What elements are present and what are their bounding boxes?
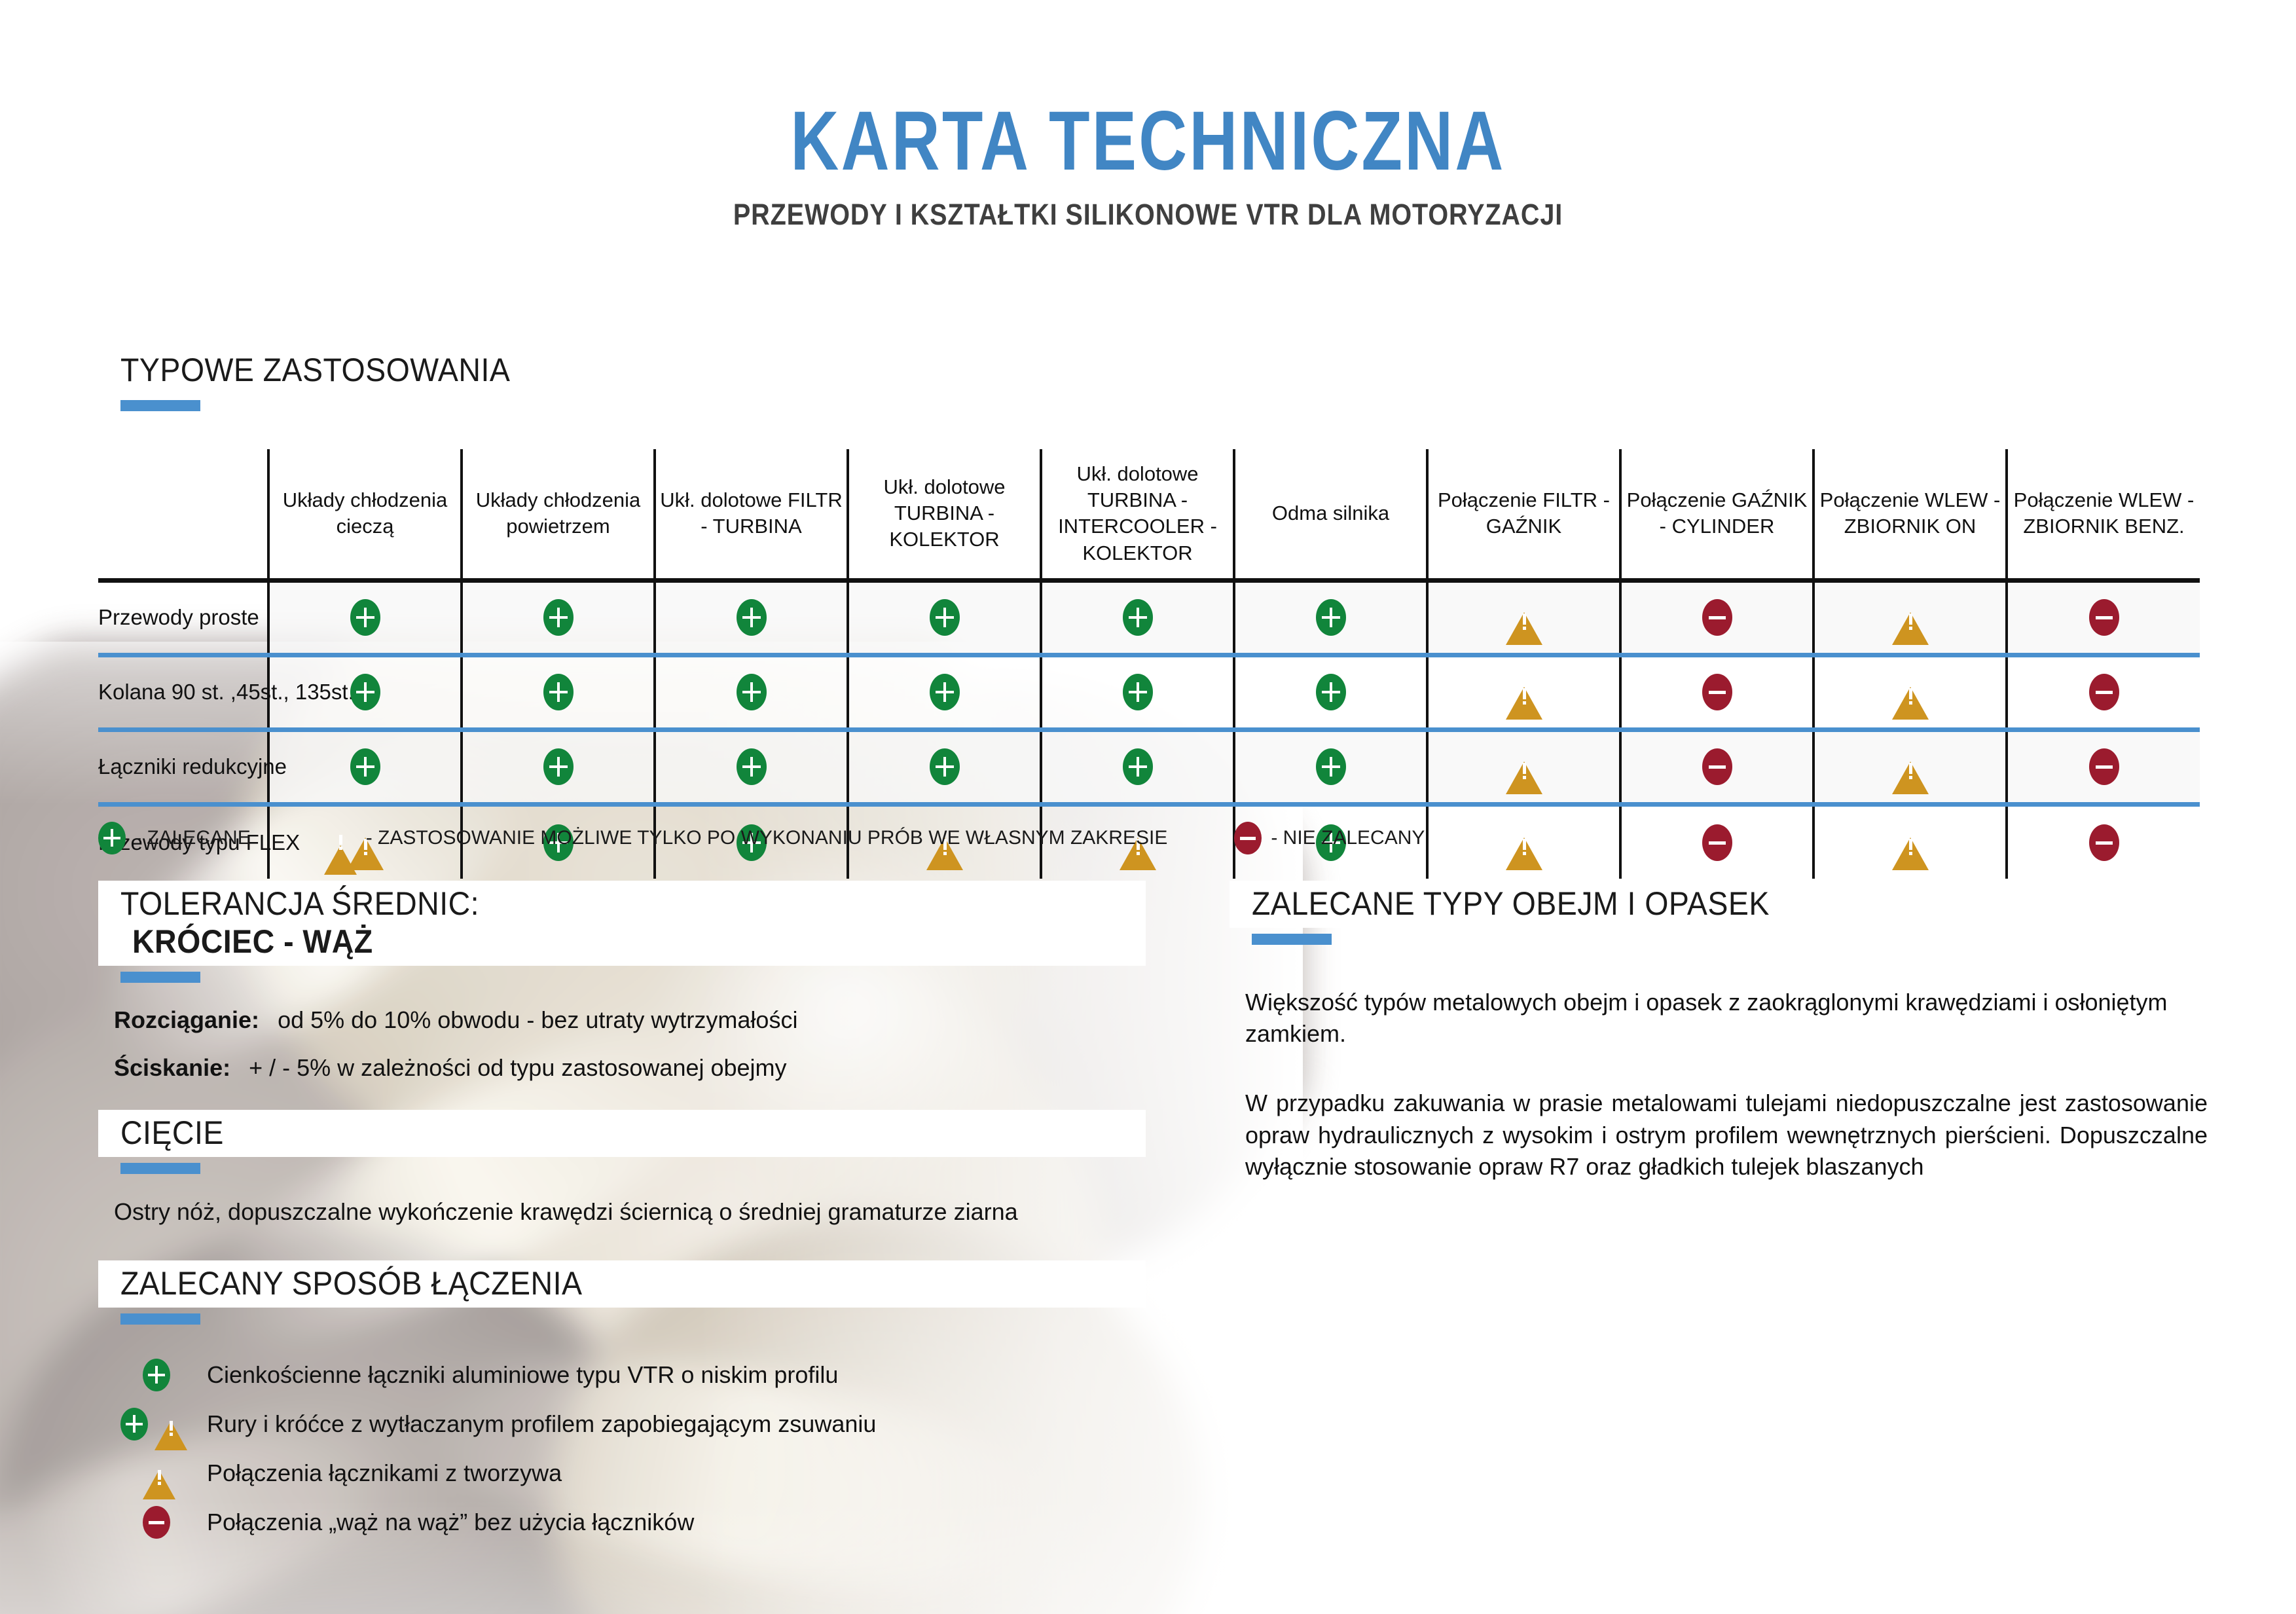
plus-icon [543,748,574,785]
rating-cell [268,580,462,655]
list-item-icons [120,1359,207,1391]
table-header-row: Układy chłodzenia cieczą Układy chłodzen… [98,449,2200,580]
tolerance-compress-value: + / - 5% w zależności od typu zastosowan… [249,1054,786,1081]
rating-cell [462,729,655,804]
corner-cell [98,449,268,580]
tolerance-compress-row: Ściskanie: + / - 5% w zależności od typu… [114,1053,1146,1084]
plus-icon [1316,748,1346,785]
rating-cell [655,729,848,804]
plus-icon [1123,674,1153,710]
legend-label-caution: - ZASTOSOWANIE MOŻLIWE TYLKO PO WYKONANI… [366,827,1168,849]
warning-icon [1892,750,1929,783]
tolerance-compress-key: Ściskanie: [114,1054,230,1081]
cutting-heading-text: CIĘCIE [120,1114,224,1152]
heading-accent-bar [120,1313,200,1325]
rating-cell [462,580,655,655]
column-header-carburettor-cylinder: Połączenie GAŹNIK - CYLINDER [1620,449,1813,580]
warning-icon [143,1459,175,1488]
row-label: Łączniki redukcyjne [98,729,268,804]
rating-cell [2007,729,2200,804]
list-item: Rury i króćce z wytłaczanym profilem zap… [120,1400,1146,1449]
rating-cell [1234,729,1427,804]
rating-cell [2007,804,2200,879]
minus-icon [143,1506,170,1539]
heading-accent-bar [1252,934,1332,945]
rating-cell [1620,580,1813,655]
clamps-heading: ZALECANE TYPY OBEJM I OPASEK [1230,881,2238,945]
tolerance-heading-text: TOLERANCJA ŚREDNIC: [120,885,479,923]
column-header-intake-turbine-manifold: Ukł. dolotowe TURBINA - KOLEKTOR [848,449,1041,580]
rating-cell [1427,655,1620,729]
heading-accent-bar [120,1163,200,1174]
rating-cell [848,729,1041,804]
joining-list: Cienkościenne łączniki aluminiowe typu V… [120,1351,1146,1547]
rating-cell [848,655,1041,729]
rating-cell [2007,655,2200,729]
rating-cell [1813,729,2007,804]
rating-cell [1620,804,1813,879]
rating-cell [1620,655,1813,729]
list-item-icons [120,1506,207,1539]
cutting-heading: CIĘCIE [98,1110,1146,1174]
heading-accent-bar [120,400,200,411]
list-item-label: Rury i króćce z wytłaczanym profilem zap… [207,1410,876,1438]
warning-icon [1506,750,1542,783]
table-row: Kolana 90 st. ,45st., 135st. [98,655,2200,729]
warning-icon [155,1410,187,1439]
rating-cell [268,729,462,804]
plus-icon [930,674,960,710]
tolerance-stretch-key: Rozciąganie: [114,1006,259,1033]
plus-icon [350,748,380,785]
column-header-filler-tank-petrol: Połączenie WLEW - ZBIORNIK BENZ. [2007,449,2200,580]
rating-cell [1041,580,1234,655]
cutting-text: Ostry nóż, dopuszczalne wykończenie kraw… [114,1196,1109,1228]
plus-icon [737,674,767,710]
plus-icon [930,599,960,636]
rating-cell [1234,655,1427,729]
legend-entry-recommended: - ZALECANE [98,822,251,854]
right-column: ZALECANE TYPY OBEJM I OPASEK Większość t… [1230,881,2238,1183]
plus-icon [1123,748,1153,785]
document-header: KARTA TECHNICZNA PRZEWODY I KSZTAŁTKI SI… [0,0,2296,232]
rating-cell [1813,804,2007,879]
legend-entry-caution: - ZASTOSOWANIE MOŻLIWE TYLKO PO WYKONANI… [324,824,1168,853]
plus-icon [120,1408,148,1440]
rating-cell [1041,729,1234,804]
warning-icon [324,824,357,853]
plus-icon [543,599,574,636]
warning-icon [1892,601,1929,634]
plus-icon [350,674,380,710]
page-subtitle: PRZEWODY I KSZTAŁTKI SILIKONOWE VTR DLA … [137,198,2158,232]
applications-heading: TYPOWE ZASTOSOWANIA [98,347,2200,411]
legend-label-recommended: - ZALECANE [135,827,251,849]
technical-data-sheet: KARTA TECHNICZNA PRZEWODY I KSZTAŁTKI SI… [0,0,2296,1614]
plus-icon [1316,674,1346,710]
list-item-icons [120,1459,207,1488]
rating-cell [655,580,848,655]
tolerance-stretch-value: od 5% do 10% obwodu - bez utraty wytrzym… [278,1006,797,1033]
applications-table: Układy chłodzenia cieczą Układy chłodzen… [98,449,2200,879]
list-item: Połączenia łącznikami z tworzywa [120,1449,1146,1498]
table-row: Przewody proste [98,580,2200,655]
warning-icon [1506,676,1542,708]
table-header: Układy chłodzenia cieczą Układy chłodzen… [98,449,2200,580]
minus-icon [2089,824,2119,861]
tolerance-stretch-row: Rozciąganie: od 5% do 10% obwodu - bez u… [114,1005,1146,1036]
row-label: Przewody proste [98,580,268,655]
list-item-label: Połączenia „wąż na wąż” bez użycia łączn… [207,1509,694,1536]
list-item: Cienkościenne łączniki aluminiowe typu V… [120,1351,1146,1400]
plus-icon [1316,599,1346,636]
minus-icon [1234,822,1262,854]
list-item-label: Połączenia łącznikami z tworzywa [207,1459,562,1487]
plus-icon [98,822,126,854]
left-column: TOLERANCJA ŚREDNIC: KRÓCIEC - WĄŻ Rozcią… [98,881,1146,1547]
rating-cell [1427,804,1620,879]
minus-icon [2089,748,2119,785]
list-item: Połączenia „wąż na wąż” bez użycia łączn… [120,1498,1146,1547]
legend: - ZALECANE - ZASTOSOWANIE MOŻLIWE TYLKO … [98,822,1425,854]
column-header-crankcase-breather: Odma silnika [1234,449,1427,580]
plus-icon [930,748,960,785]
table-row: Łączniki redukcyjne [98,729,2200,804]
minus-icon [1702,824,1732,861]
rating-cell [1427,729,1620,804]
plus-icon [1123,599,1153,636]
rating-cell [1234,580,1427,655]
rating-cell [1427,580,1620,655]
warning-icon [1506,826,1542,859]
column-header-intake-turbine-intercooler-manifold: Ukł. dolotowe TURBINA - INTERCOOLER - KO… [1041,449,1234,580]
legend-entry-not-recommended: - NIE ZALECANY [1234,822,1425,854]
column-header-cooling-liquid: Układy chłodzenia cieczą [268,449,462,580]
applications-section: TYPOWE ZASTOSOWANIA Układy chłodzenia ci… [98,347,2200,879]
applications-heading-text: TYPOWE ZASTOSOWANIA [120,351,510,389]
warning-icon [1892,676,1929,708]
column-header-intake-filter-turbine: Ukł. dolotowe FILTR - TURBINA [655,449,848,580]
warning-icon [1892,826,1929,859]
page-title: KARTA TECHNICZNA [230,100,2067,183]
rating-cell [1813,580,2007,655]
heading-accent-bar [120,972,200,983]
rating-cell [1041,655,1234,729]
list-item-icons [120,1408,207,1440]
tolerance-heading-emphasis: KRÓCIEC - WĄŻ [132,923,373,961]
rating-cell [655,655,848,729]
plus-icon [543,674,574,710]
joining-heading: ZALECANY SPOSÓB ŁĄCZENIA [98,1260,1146,1325]
rating-cell [2007,580,2200,655]
joining-heading-text: ZALECANY SPOSÓB ŁĄCZENIA [120,1264,582,1302]
column-header-filter-carburettor: Połączenie FILTR - GAŹNIK [1427,449,1620,580]
clamps-paragraph-1: Większość typów metalowych obejm i opase… [1245,987,2214,1050]
tolerance-heading: TOLERANCJA ŚREDNIC: KRÓCIEC - WĄŻ [98,881,1146,983]
minus-icon [1702,674,1732,710]
minus-icon [2089,599,2119,636]
clamps-paragraph-2: W przypadku zakuwania w prasie metalowam… [1245,1088,2208,1183]
clamps-heading-text: ZALECANE TYPY OBEJM I OPASEK [1252,885,1770,923]
rating-cell [848,580,1041,655]
rating-cell [1620,729,1813,804]
minus-icon [1702,599,1732,636]
rating-cell [1813,655,2007,729]
minus-icon [2089,674,2119,710]
plus-icon [350,599,380,636]
legend-label-not-recommended: - NIE ZALECANY [1271,827,1425,849]
column-header-cooling-air: Układy chłodzenia powietrzem [462,449,655,580]
rating-cell [462,655,655,729]
minus-icon [1702,748,1732,785]
column-header-filler-tank-diesel: Połączenie WLEW - ZBIORNIK ON [1813,449,2007,580]
plus-icon [737,599,767,636]
plus-icon [737,748,767,785]
row-label: Kolana 90 st. ,45st., 135st. [98,655,268,729]
list-item-label: Cienkościenne łączniki aluminiowe typu V… [207,1361,838,1389]
warning-icon [1506,601,1542,634]
plus-icon [143,1359,170,1391]
